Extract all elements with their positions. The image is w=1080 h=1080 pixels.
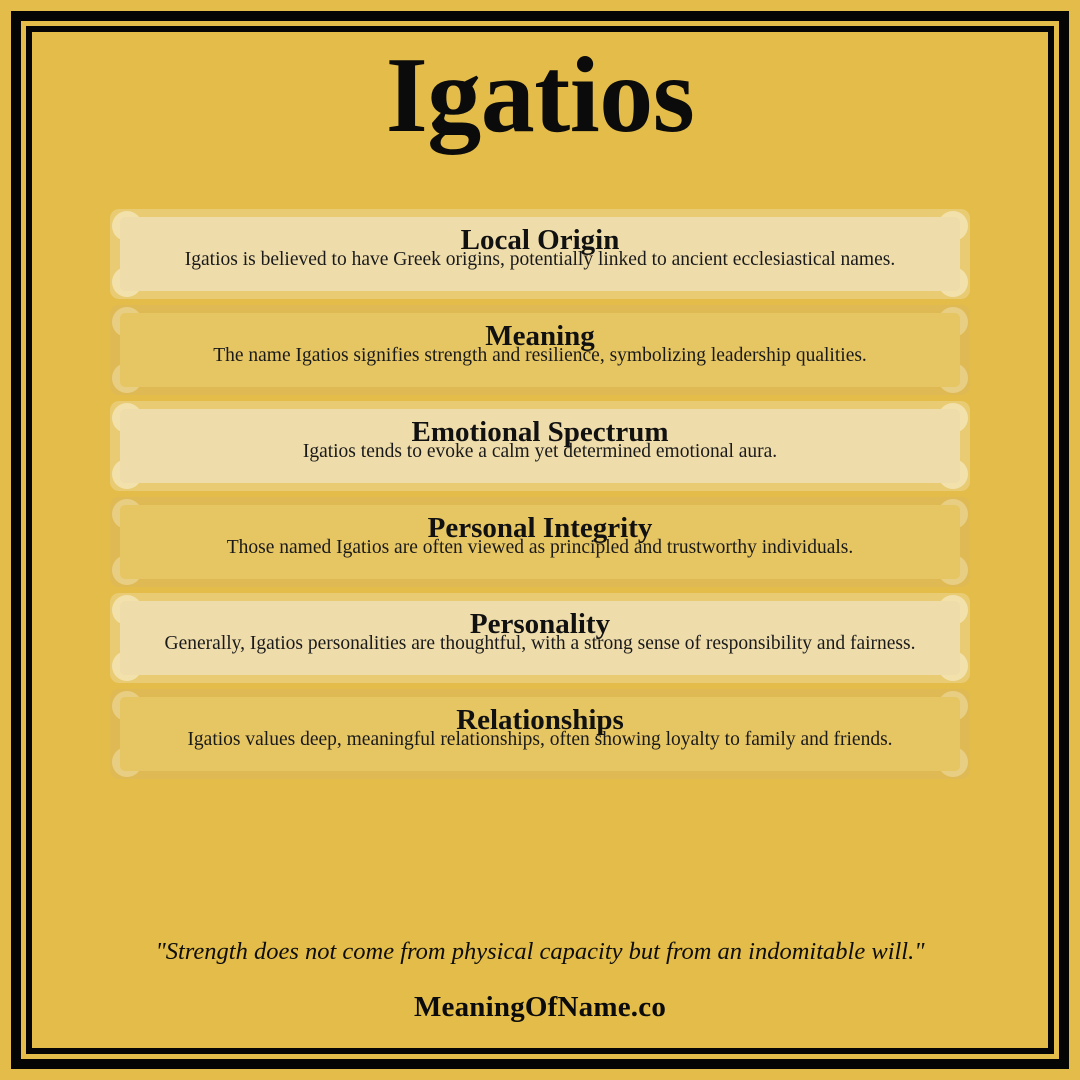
footer-quote: "Strength does not come from physical ca… [52,937,1028,966]
attribute-card-panel: Local Origin Igatios is believed to have… [120,217,960,291]
attribute-card-body: Igatios tends to evoke a calm yet determ… [146,441,934,463]
brand-wordmark: MeaningOfName.co [52,992,1028,1024]
attribute-card: Emotional Spectrum Igatios tends to evok… [110,401,970,491]
attribute-card: Meaning The name Igatios signifies stren… [110,305,970,395]
attribute-card-panel: Meaning The name Igatios signifies stren… [120,313,960,387]
attribute-card-panel: Personal Integrity Those named Igatios a… [120,505,960,579]
attribute-card: Local Origin Igatios is believed to have… [110,209,970,299]
attribute-card-list: Local Origin Igatios is believed to have… [110,209,970,785]
attribute-card: Relationships Igatios values deep, meani… [110,689,970,779]
attribute-card-body: Those named Igatios are often viewed as … [146,537,934,559]
attribute-card-panel: Relationships Igatios values deep, meani… [120,697,960,771]
attribute-card-body: Igatios values deep, meaningful relation… [146,729,934,751]
poster-footer: "Strength does not come from physical ca… [52,937,1028,1024]
attribute-card-body: Generally, Igatios personalities are tho… [146,633,934,655]
attribute-card-body: The name Igatios signifies strength and … [146,345,934,367]
attribute-card: Personality Generally, Igatios personali… [110,593,970,683]
attribute-card-panel: Emotional Spectrum Igatios tends to evok… [120,409,960,483]
poster: Igatios Local Origin Igatios is believed… [0,0,1080,1080]
poster-content: Igatios Local Origin Igatios is believed… [32,32,1048,1048]
page-title: Igatios [32,32,1048,155]
attribute-card-panel: Personality Generally, Igatios personali… [120,601,960,675]
attribute-card-body: Igatios is believed to have Greek origin… [146,249,934,271]
attribute-card: Personal Integrity Those named Igatios a… [110,497,970,587]
